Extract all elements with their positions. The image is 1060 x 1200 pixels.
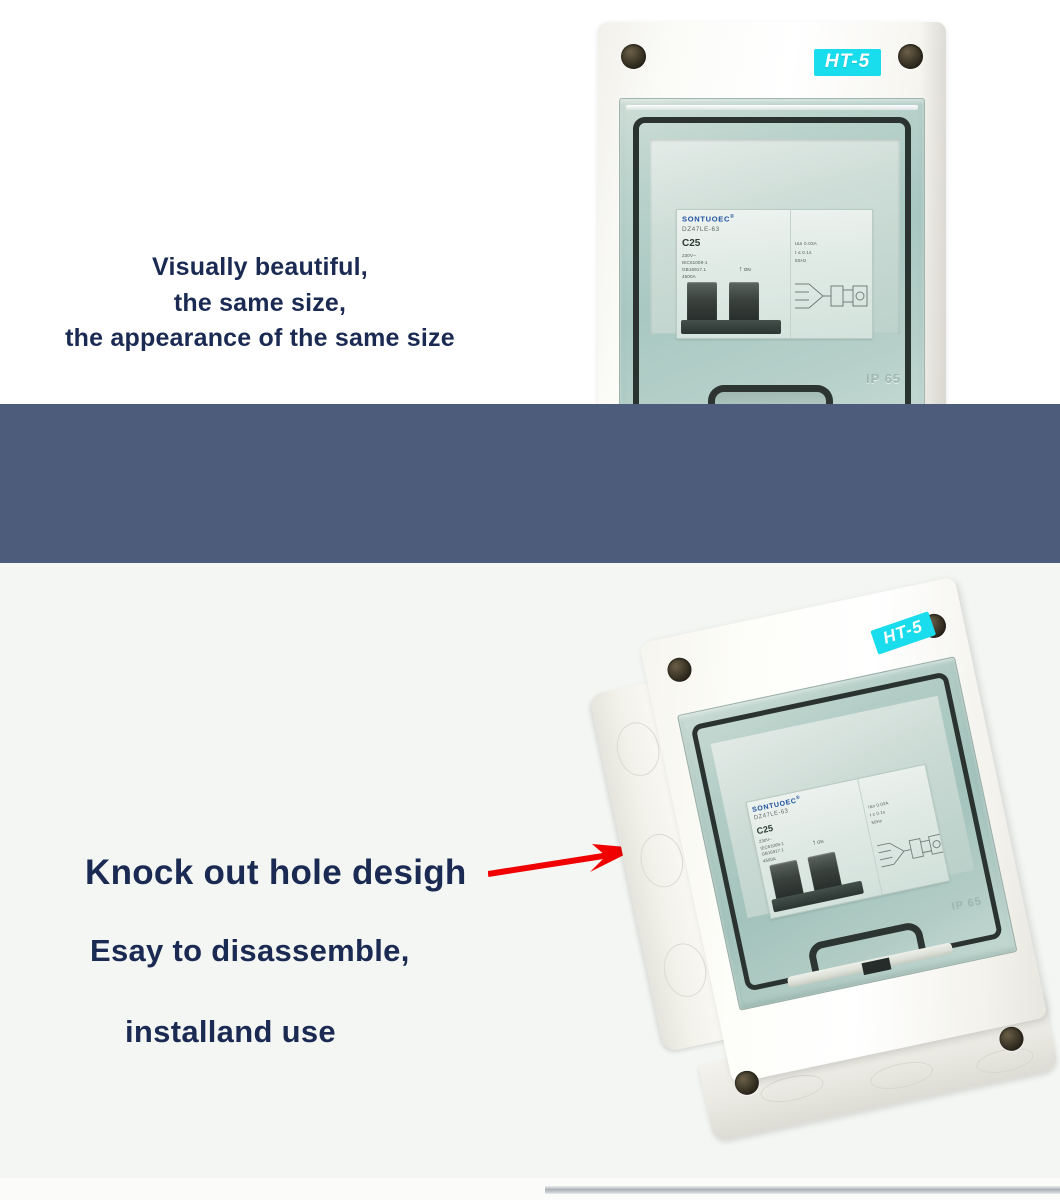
breaker-brand: SONTUOEC®: [682, 214, 735, 224]
breaker-toggle-lever-right[interactable]: [729, 282, 759, 322]
product-photo-angled: HT-5 SONTUOEC® DZ47LE-63 C25 230V~ IEC61…: [618, 578, 1048, 1138]
breaker-rating-angled: C25: [756, 823, 774, 836]
breaker-model: DZ47LE-63: [682, 226, 720, 233]
section-top: Visually beautiful, the same size, the a…: [0, 0, 1060, 404]
caption-bottom-line-1: Knock out hole desigh: [85, 855, 540, 890]
breaker-right-spec-lines: IΔn 0.03A t ≤ 0.1s 50Hz: [795, 240, 817, 266]
caption-top-line-1: Visually beautiful,: [0, 250, 520, 286]
right-spec-line-3: 50Hz: [795, 257, 817, 266]
breaker-rating: C25: [682, 238, 700, 249]
breaker-right-spec-lines-angled: IΔn 0.03A t ≤ 0.1s 50Hz: [867, 799, 892, 827]
switch-on-label: ↑ ON: [739, 262, 753, 278]
caption-bottom: Knock out hole desigh Esay to disassembl…: [70, 855, 540, 1047]
transparent-cover-window: SONTUOEC® DZ47LE-63 C25 230V~ IEC61009-1…: [619, 98, 925, 436]
breaker-spec-lines: 230V~ IEC61009-1 GB16917.1 4500A: [682, 252, 708, 280]
window-top-rail: [626, 105, 918, 110]
right-spec-line-2: t ≤ 0.1s: [795, 249, 817, 258]
breaker-spec-lines-angled: 230V~ IEC61009-1 GB16917.1 4500A: [758, 834, 787, 865]
wiring-diagram-icon-angled: [873, 824, 950, 874]
breaker-right-face: T IΔn 0.03A t ≤ 0.1s 50Hz: [791, 210, 872, 338]
caption-bottom-line-2: Esay to disassemble,: [90, 935, 540, 966]
breaker-left-face: SONTUOEC® DZ47LE-63 C25 230V~ IEC61009-1…: [677, 210, 791, 338]
brand-registered-mark: ®: [730, 214, 734, 220]
breaker-toggle-lever-left[interactable]: [687, 282, 717, 322]
breaker-lever-base: [681, 320, 781, 334]
circuit-breaker-module: SONTUOEC® DZ47LE-63 C25 230V~ IEC61009-1…: [676, 209, 873, 339]
right-spec-line-1: IΔn 0.03A: [795, 240, 817, 249]
caption-top: Visually beautiful, the same size, the a…: [0, 250, 520, 357]
spec-line-2: IEC61009-1: [682, 259, 708, 266]
ip-rating-label: IP 65: [866, 371, 901, 386]
caption-top-line-2: the same size,: [0, 286, 520, 322]
spec-line-1: 230V~: [682, 252, 708, 259]
spec-line-3: GB16917.1: [682, 266, 708, 273]
spec-line-4: 4500A: [682, 273, 708, 280]
caption-bottom-line-3: installand use: [125, 1016, 540, 1047]
screw-hole-top-left: [621, 44, 646, 69]
wiring-diagram-icon: [793, 276, 871, 316]
model-badge: HT-5: [814, 49, 881, 76]
divider-band: [0, 404, 1060, 563]
product-feature-panel: Visually beautiful, the same size, the a…: [0, 0, 1060, 1200]
caption-top-line-3: the appearance of the same size: [0, 321, 520, 357]
knockout-oval-2: [868, 1057, 936, 1094]
next-image-edge: [545, 1186, 1060, 1194]
screw-hole-top-right: [898, 44, 923, 69]
